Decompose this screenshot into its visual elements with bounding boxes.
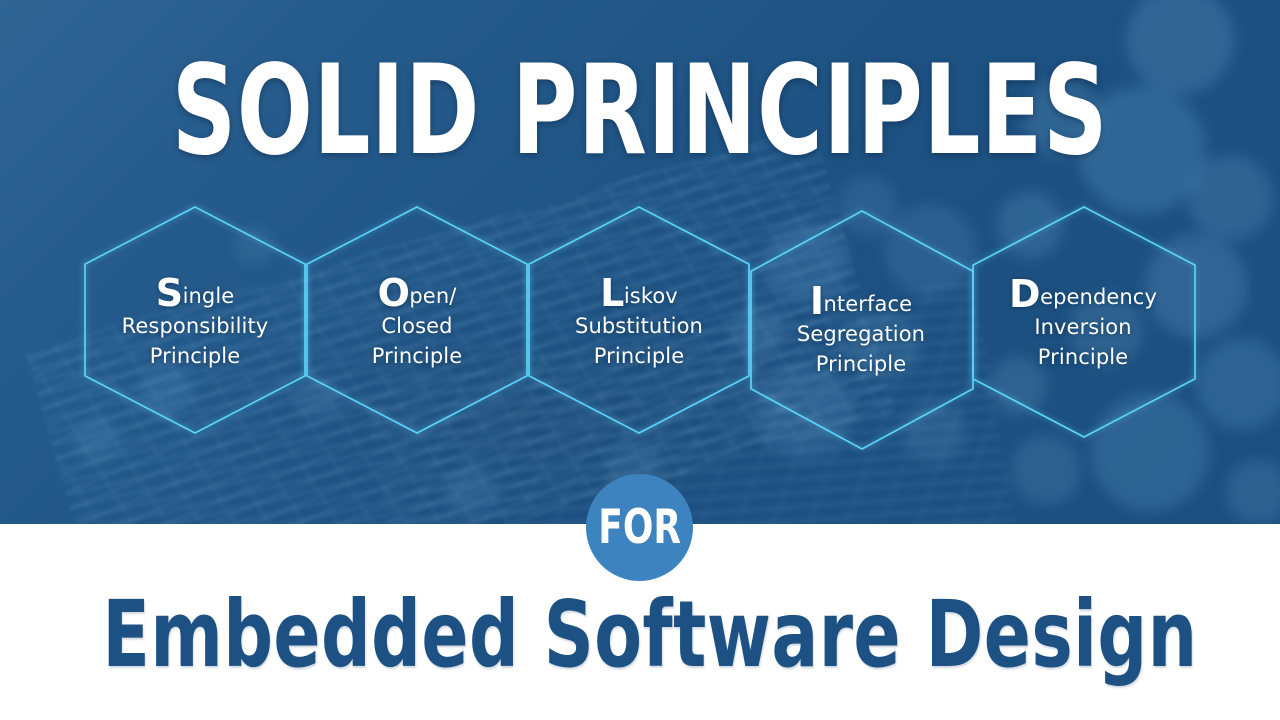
principle-label-line-2: Segregation xyxy=(736,319,986,349)
principle-label-single-responsibility: SingleResponsibilityPrinciple xyxy=(70,278,320,371)
principle-initial-letter: S xyxy=(156,271,183,315)
principle-label-line-1: Liskov xyxy=(514,278,764,311)
principle-label-line-1: Dependency xyxy=(958,279,1208,312)
for-connector-badge: FOR xyxy=(586,474,693,581)
principle-label-dependency-inversion: DependencyInversionPrinciple xyxy=(958,279,1208,372)
principle-label-line-2: Closed xyxy=(292,311,542,341)
principle-label-line-1: Single xyxy=(70,278,320,311)
principle-hexagon-single-responsibility[interactable]: SingleResponsibilityPrinciple xyxy=(84,206,306,434)
principle-initial-letter: I xyxy=(810,279,824,323)
for-connector-label: FOR xyxy=(598,504,681,551)
principle-label-line-1: Interface xyxy=(736,286,986,319)
principle-label-liskov-substitution: LiskovSubstitutionPrinciple xyxy=(514,278,764,371)
principle-hexagon-interface-segregation[interactable]: InterfaceSegregationPrinciple xyxy=(750,210,974,450)
principle-hexagon-liskov-substitution[interactable]: LiskovSubstitutionPrinciple xyxy=(528,206,750,434)
principle-label-line-2: Inversion xyxy=(958,312,1208,342)
principle-hexagon-open-closed[interactable]: Open/ClosedPrinciple xyxy=(306,206,528,434)
principle-initial-letter: O xyxy=(378,271,410,315)
principle-initial-letter: L xyxy=(600,271,624,315)
bokeh-circle xyxy=(445,465,495,515)
principle-initial-letter: D xyxy=(1009,272,1040,316)
principle-label-line-1: Open/ xyxy=(292,278,542,311)
principle-hexagon-dependency-inversion[interactable]: DependencyInversionPrinciple xyxy=(972,206,1196,438)
principle-label-line-3: Principle xyxy=(736,349,986,379)
principle-label-line-2: Responsibility xyxy=(70,311,320,341)
subtitle: Embedded Software Design xyxy=(102,588,1177,682)
hero-panel: SOLID PRINCIPLES SingleResponsibilityPri… xyxy=(0,0,1280,524)
principle-label-interface-segregation: InterfaceSegregationPrinciple xyxy=(736,286,986,379)
principle-label-line-3: Principle xyxy=(292,341,542,371)
principle-label-line-3: Principle xyxy=(514,341,764,371)
principle-label-open-closed: Open/ClosedPrinciple xyxy=(292,278,542,371)
slide-root: SOLID PRINCIPLES SingleResponsibilityPri… xyxy=(0,0,1280,720)
principle-label-line-3: Principle xyxy=(70,341,320,371)
principles-hexagon-row: SingleResponsibilityPrincipleOpen/Closed… xyxy=(0,200,1280,450)
principle-label-line-2: Substitution xyxy=(514,311,764,341)
page-title: SOLID PRINCIPLES xyxy=(128,52,1152,170)
principle-label-line-3: Principle xyxy=(958,342,1208,372)
